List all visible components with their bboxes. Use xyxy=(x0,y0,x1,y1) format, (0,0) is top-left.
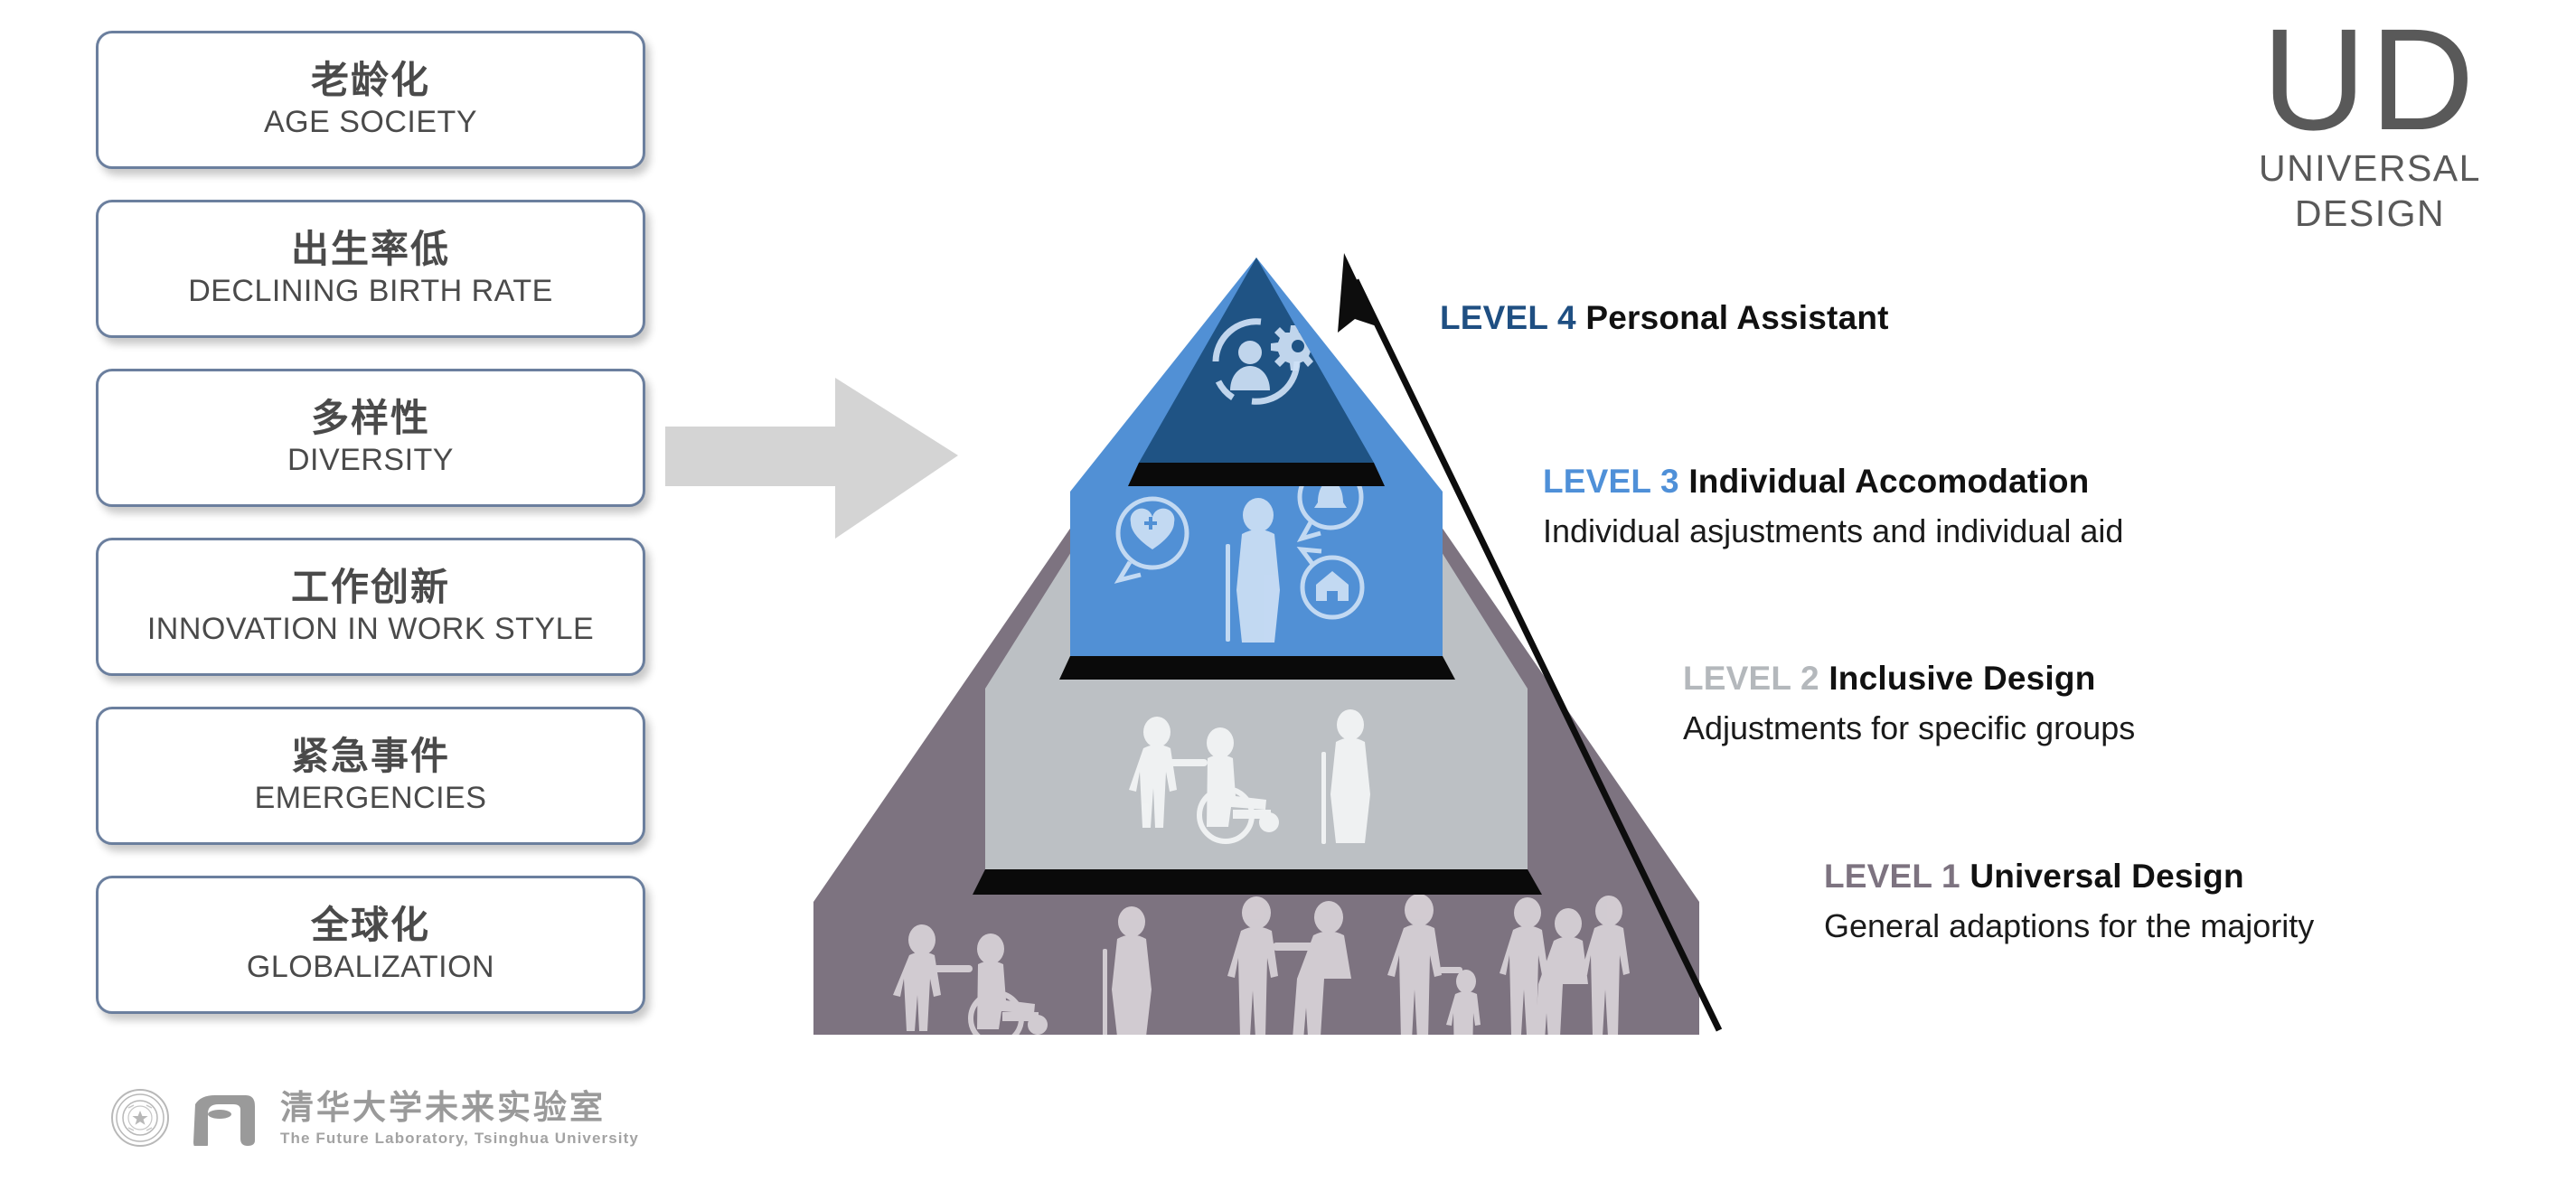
level-2-tag: LEVEL 2 xyxy=(1683,660,1819,697)
ud-word-design: DESIGN xyxy=(2198,191,2542,236)
footer-cn-label: 清华大学未来实验室 xyxy=(280,1091,639,1124)
level-1-heading: LEVEL 1 Universal Design xyxy=(1824,857,2314,896)
driver-cn-label: 老龄化 xyxy=(311,60,430,101)
level-2-heading: LEVEL 2 Inclusive Design xyxy=(1683,659,2135,699)
driver-box-emergencies[interactable]: 紧急事件 EMERGENCIES xyxy=(96,707,645,845)
level-1-subtitle: General adaptions for the majority xyxy=(1824,905,2314,946)
footer-en-label: The Future Laboratory, Tsinghua Universi… xyxy=(280,1130,639,1146)
level-4-label[interactable]: LEVEL 4 Personal Assistant xyxy=(1440,298,1889,338)
level-1-tag: LEVEL 1 xyxy=(1824,858,1960,895)
level-4-heading: LEVEL 4 Personal Assistant xyxy=(1440,298,1889,338)
pyramid-level-4[interactable] xyxy=(1139,258,1374,463)
future-lab-glyph-icon xyxy=(186,1090,264,1146)
driver-en-label: DIVERSITY xyxy=(287,443,454,478)
driver-cn-label: 多样性 xyxy=(311,398,430,439)
ud-logo: UD UNIVERSAL DESIGN xyxy=(2198,13,2542,236)
driver-en-label: AGE SOCIETY xyxy=(264,105,477,140)
driver-cn-label: 全球化 xyxy=(311,905,430,946)
driver-en-label: GLOBALIZATION xyxy=(247,950,494,985)
driver-box-diversity[interactable]: 多样性 DIVERSITY xyxy=(96,369,645,507)
driver-en-label: INNOVATION IN WORK STYLE xyxy=(147,612,594,647)
level-1-label[interactable]: LEVEL 1 Universal Design General adaptio… xyxy=(1824,857,2314,946)
level-3-tag: LEVEL 3 xyxy=(1543,463,1679,500)
level-2-name: Inclusive Design xyxy=(1829,660,2095,697)
driver-cn-label: 紧急事件 xyxy=(291,736,450,777)
driver-box-declining-birth-rate[interactable]: 出生率低 DECLINING BIRTH RATE xyxy=(96,200,645,338)
level-2-label[interactable]: LEVEL 2 Inclusive Design Adjustments for… xyxy=(1683,659,2135,748)
level-4-name: Personal Assistant xyxy=(1585,299,1888,336)
driver-en-label: EMERGENCIES xyxy=(255,781,487,816)
driver-box-age-society[interactable]: 老龄化 AGE SOCIETY xyxy=(96,31,645,169)
footer-text-block: 清华大学未来实验室 The Future Laboratory, Tsinghu… xyxy=(280,1091,639,1146)
level-4-tag: LEVEL 4 xyxy=(1440,299,1576,336)
driver-cn-label: 工作创新 xyxy=(291,567,450,608)
driver-box-innovation-in-work-style[interactable]: 工作创新 INNOVATION IN WORK STYLE xyxy=(96,538,645,676)
level-3-label[interactable]: LEVEL 3 Individual Accomodation Individu… xyxy=(1543,462,2123,551)
driver-box-globalization[interactable]: 全球化 GLOBALIZATION xyxy=(96,876,645,1014)
level-3-name: Individual Accomodation xyxy=(1688,463,2089,500)
driver-cn-label: 出生率低 xyxy=(291,229,450,270)
level-2-subtitle: Adjustments for specific groups xyxy=(1683,708,2135,748)
level-3-subtitle: Individual asjustments and individual ai… xyxy=(1543,511,2123,551)
ud-word-universal: UNIVERSAL xyxy=(2198,145,2542,191)
driver-en-label: DECLINING BIRTH RATE xyxy=(188,274,553,309)
footer-logo: 清华大学未来实验室 The Future Laboratory, Tsinghu… xyxy=(110,1083,639,1153)
tsinghua-seal-icon xyxy=(110,1088,170,1148)
level-1-name: Universal Design xyxy=(1970,858,2243,895)
driver-box-list: 老龄化 AGE SOCIETY 出生率低 DECLINING BIRTH RAT… xyxy=(96,31,649,1034)
ud-monogram: UD xyxy=(2198,13,2542,145)
pyramid-diagram xyxy=(795,226,1753,1039)
level-3-heading: LEVEL 3 Individual Accomodation xyxy=(1543,462,2123,502)
